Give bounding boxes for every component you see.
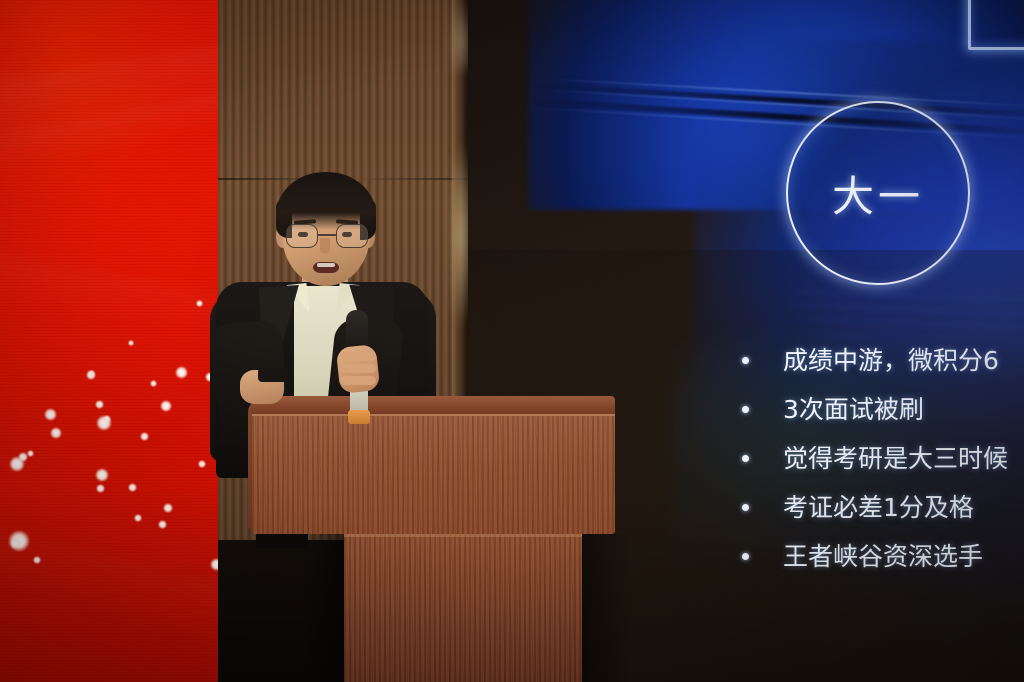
bullet-dot-icon: [742, 406, 749, 413]
bokeh-dot: [128, 340, 134, 346]
finger: [340, 376, 376, 385]
bullet-dot-icon: [742, 553, 749, 560]
bokeh-dot: [96, 484, 105, 493]
bokeh-dot: [95, 400, 104, 409]
mouth: [313, 262, 339, 273]
podium-base-column: [344, 534, 582, 682]
slide-bullet-text: 成绩中游，微积分6: [783, 348, 999, 373]
bullet-dot-icon: [742, 504, 749, 511]
slide-bullet-item: 王者峡谷资深选手: [742, 532, 1024, 581]
bokeh-dot: [88, 370, 95, 377]
finger: [340, 352, 376, 361]
bullet-dot-icon: [742, 455, 749, 462]
slide-bullet-item: 3次面试被刷: [742, 385, 1024, 434]
blue-rectangle-frame-icon: [968, 0, 1024, 50]
wood-grain-texture: [252, 416, 615, 534]
finger: [340, 364, 376, 373]
podium-right-shadow: [582, 534, 632, 682]
curtain-shading: [0, 482, 218, 682]
podium-base-shadow: [300, 534, 344, 682]
slide-bullet-item: 成绩中游，微积分6: [742, 336, 1024, 385]
bokeh-dot: [175, 366, 188, 379]
slide-bullet-text: 王者峡谷资深选手: [783, 544, 983, 569]
podium-front-panel: [252, 416, 615, 534]
bokeh-dot: [158, 520, 167, 529]
stage-photo-scene: 大一 成绩中游，微积分63次面试被刷觉得考研是大三时候考证必差1分及格王者峡谷资…: [0, 0, 1024, 682]
slide-bullet-item: 觉得考研是大三时候: [742, 434, 1024, 483]
bokeh-dot: [50, 427, 62, 439]
podium-base-highlight: [344, 534, 582, 537]
bokeh-dot: [128, 483, 137, 492]
lens-right: [336, 224, 368, 248]
slide-bullet-item: 考证必差1分及格: [742, 483, 1024, 532]
slide-bullet-text: 3次面试被刷: [783, 397, 924, 422]
bokeh-dot: [198, 460, 206, 468]
bokeh-dot: [95, 468, 109, 482]
presentation-clicker-icon: [258, 368, 288, 382]
bokeh-dot: [160, 400, 172, 412]
bokeh-dot: [27, 450, 34, 457]
bokeh-dot: [10, 538, 21, 549]
bullet-dot-icon: [742, 357, 749, 364]
slide-bullet-list: 成绩中游，微积分63次面试被刷觉得考研是大三时候考证必差1分及格王者峡谷资深选手: [742, 336, 1024, 581]
bokeh-dot: [44, 408, 57, 421]
microphone-band: [348, 410, 370, 424]
slide-bullet-text: 觉得考研是大三时候: [783, 446, 1008, 471]
slide-bullet-text: 考证必差1分及格: [783, 495, 974, 520]
wood-grain-texture: [344, 534, 582, 682]
bokeh-dot: [103, 415, 111, 423]
heading-circle-label: 大一: [786, 101, 970, 285]
bokeh-dot: [150, 380, 157, 387]
bokeh-dot: [163, 503, 173, 513]
bokeh-dot: [134, 514, 142, 522]
glasses-bridge: [318, 234, 336, 236]
bokeh-dot: [33, 556, 41, 564]
hair: [276, 172, 376, 230]
lens-left: [286, 224, 318, 248]
bokeh-dot: [140, 432, 149, 441]
bokeh-dot: [196, 300, 203, 307]
nose: [320, 238, 330, 254]
